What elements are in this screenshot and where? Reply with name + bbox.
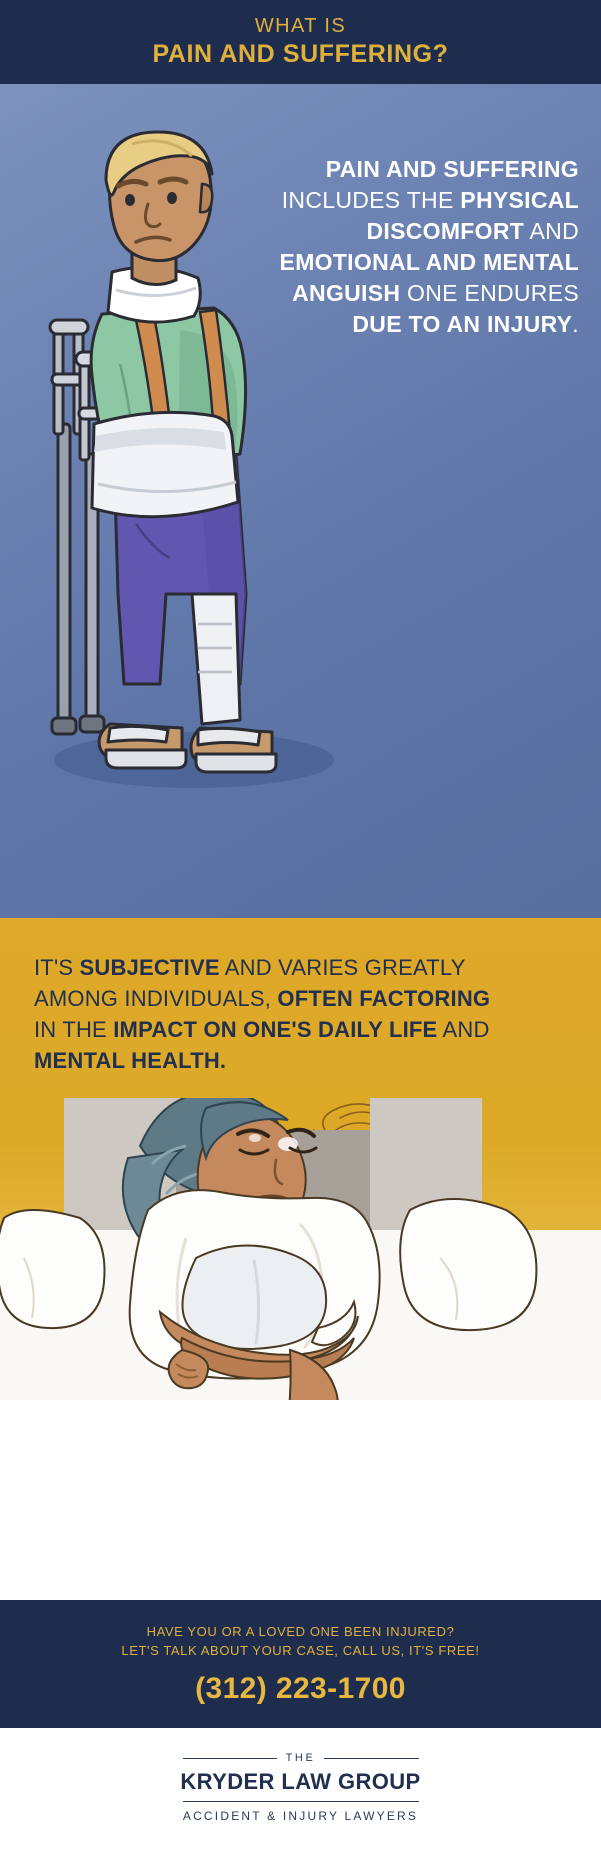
logo-firm-name: KRYDER LAW GROUP [180,1769,420,1795]
cta-line-1: HAVE YOU OR A LOVED ONE BEEN INJURED? [147,1622,455,1641]
segment-in-the: IN THE [34,1017,113,1042]
segment-due-to-an-injury: DUE TO AN INJURY [352,311,572,337]
segment-includes-the: INCLUDES THE [282,187,461,213]
segment-subjective: SUBJECTIVE [80,955,220,980]
page-title: PAIN AND SUFFERING? [152,39,448,69]
segment-and-2: AND [437,1017,489,1042]
segment-and: AND [524,218,579,244]
logo-rule-left [183,1758,277,1759]
segment-impact-on-ones-daily-life: IMPACT ON ONE'S DAILY LIFE [113,1017,437,1042]
distressed-woman-illustration [0,1098,601,1400]
segment-one-endures: ONE ENDURES [400,280,579,306]
blue-section-paragraph: PAIN AND SUFFERING INCLUDES THE PHYSICAL… [239,154,579,340]
white-divider-strip [0,1400,601,1600]
phone-number[interactable]: (312) 223-1700 [195,1672,406,1706]
logo-the-row: THE [183,1752,419,1764]
segment-its: IT'S [34,955,80,980]
yellow-section: IT'S SUBJECTIVE AND VARIES GREATLY AMONG… [0,918,601,1400]
cta-banner: HAVE YOU OR A LOVED ONE BEEN INJURED? LE… [0,1600,601,1728]
yellow-section-paragraph: IT'S SUBJECTIVE AND VARIES GREATLY AMONG… [34,952,504,1076]
segment-pain-and-suffering: PAIN AND SUFFERING [326,156,579,182]
logo-rule-right [324,1758,418,1759]
logo-the-text: THE [286,1752,316,1764]
page-header: WHAT IS PAIN AND SUFFERING? [0,0,601,84]
segment-mental-health: MENTAL HEALTH. [34,1048,226,1073]
logo-tagline: ACCIDENT & INJURY LAWYERS [183,1809,418,1823]
logo-rule-bottom [183,1801,419,1802]
brand-logo[interactable]: THE KRYDER LAW GROUP ACCIDENT & INJURY L… [0,1728,601,1856]
header-line-1: WHAT IS [255,15,346,37]
blue-section: PAIN AND SUFFERING INCLUDES THE PHYSICAL… [0,84,601,918]
segment-period: . [572,311,579,337]
segment-often-factoring: OFTEN FACTORING [277,986,490,1011]
cta-line-2: LET'S TALK ABOUT YOUR CASE, CALL US, IT'… [121,1641,479,1660]
infographic-page: WHAT IS PAIN AND SUFFERING? [0,0,601,1856]
